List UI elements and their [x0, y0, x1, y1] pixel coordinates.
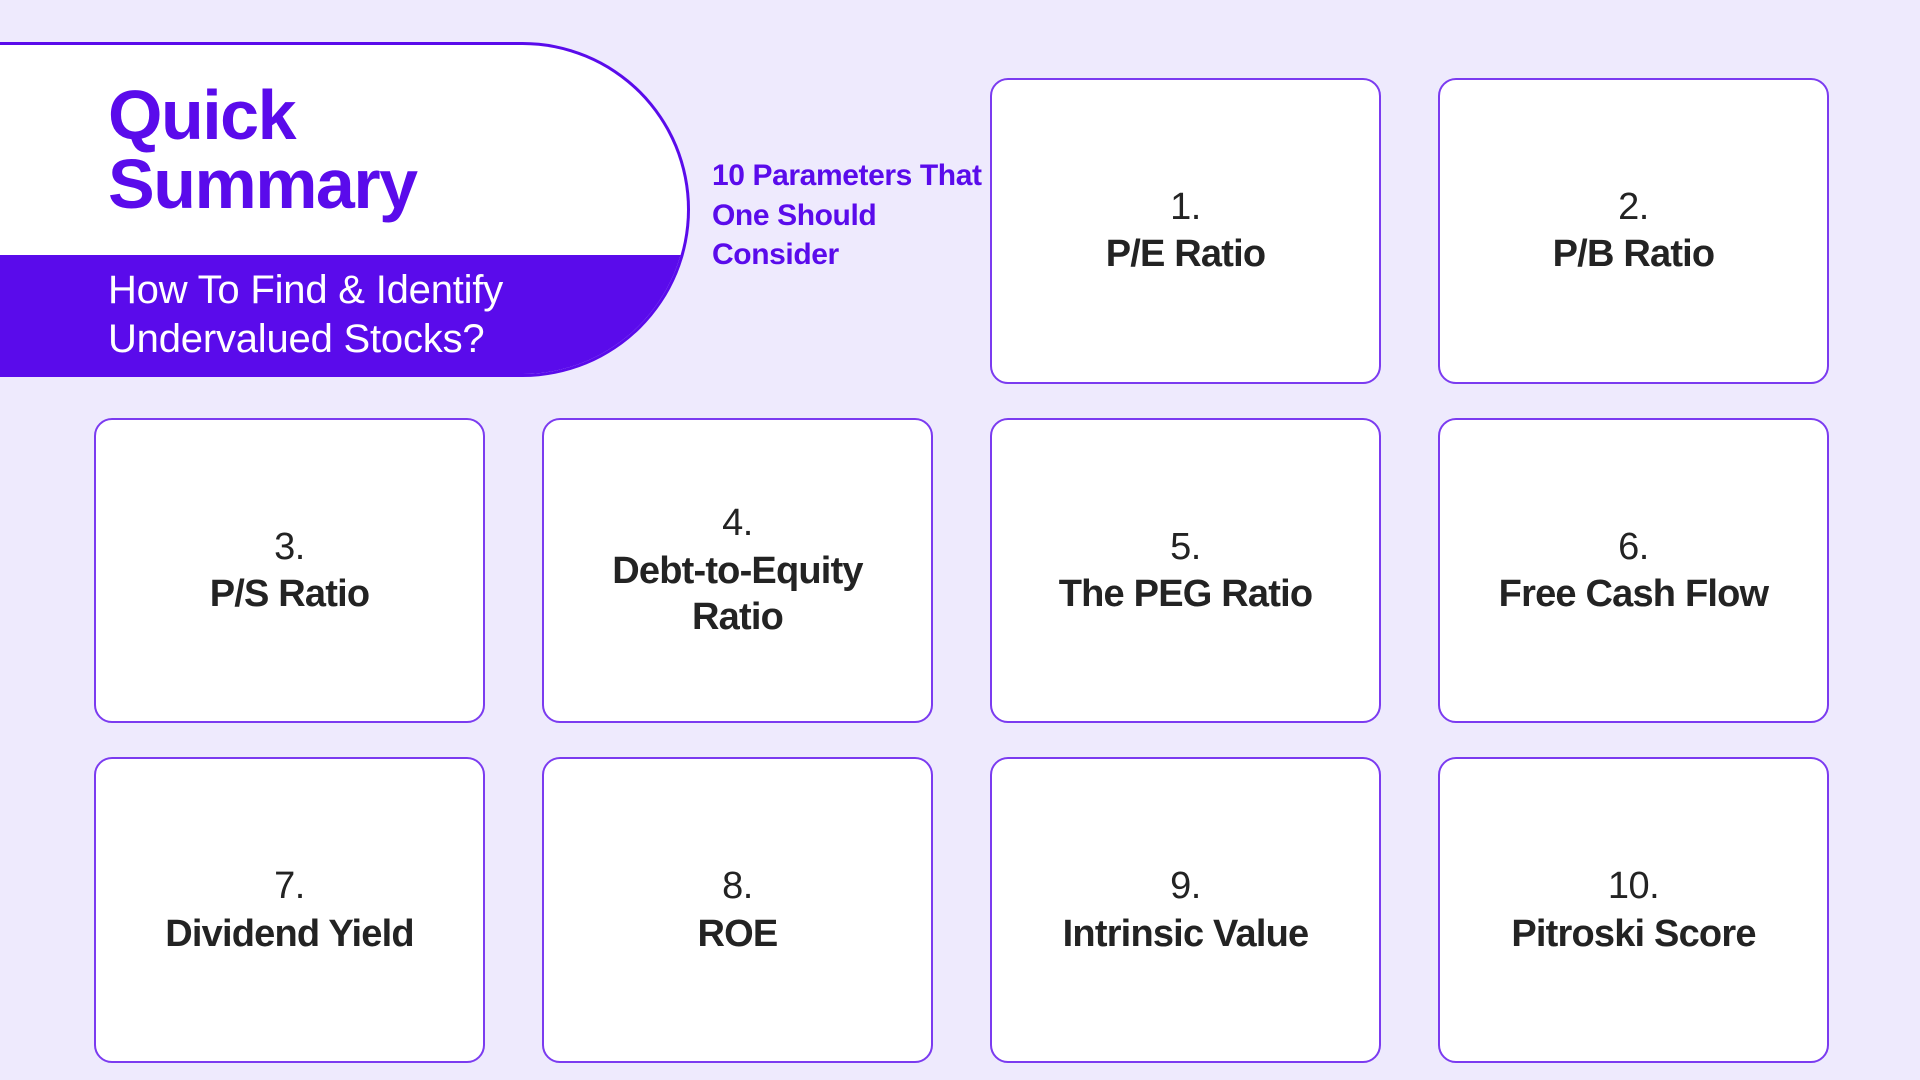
parameter-card-5[interactable]: 5. The PEG Ratio	[990, 418, 1381, 724]
card-number: 7.	[274, 863, 305, 911]
card-number: 3.	[274, 524, 305, 572]
card-label: The PEG Ratio	[1059, 571, 1313, 617]
card-number: 2.	[1618, 184, 1649, 232]
card-number: 9.	[1170, 863, 1201, 911]
parameter-card-4[interactable]: 4. Debt-to-Equity Ratio	[542, 418, 933, 724]
card-label: Intrinsic Value	[1063, 911, 1309, 957]
parameter-card-10[interactable]: 10. Pitroski Score	[1438, 757, 1829, 1063]
parameter-card-3[interactable]: 3. P/S Ratio	[94, 418, 485, 724]
card-number: 1.	[1170, 184, 1201, 232]
card-label: P/B Ratio	[1553, 231, 1715, 277]
card-label: Debt-to-Equity Ratio	[612, 548, 863, 641]
card-label: Free Cash Flow	[1499, 571, 1769, 617]
card-label: Pitroski Score	[1511, 911, 1755, 957]
grid-spacer	[542, 78, 933, 384]
parameter-card-9[interactable]: 9. Intrinsic Value	[990, 757, 1381, 1063]
card-label: ROE	[698, 911, 778, 957]
parameter-card-1[interactable]: 1. P/E Ratio	[990, 78, 1381, 384]
card-number: 6.	[1618, 524, 1649, 572]
card-label: P/S Ratio	[210, 571, 370, 617]
card-label: P/E Ratio	[1106, 231, 1266, 277]
grid-spacer	[94, 78, 485, 384]
card-number: 10.	[1608, 863, 1659, 911]
card-number: 4.	[722, 500, 753, 548]
parameter-card-8[interactable]: 8. ROE	[542, 757, 933, 1063]
parameter-card-2[interactable]: 2. P/B Ratio	[1438, 78, 1829, 384]
card-number: 8.	[722, 863, 753, 911]
parameter-card-7[interactable]: 7. Dividend Yield	[94, 757, 485, 1063]
card-number: 5.	[1170, 524, 1201, 572]
card-label: Dividend Yield	[165, 911, 414, 957]
parameter-card-6[interactable]: 6. Free Cash Flow	[1438, 418, 1829, 724]
